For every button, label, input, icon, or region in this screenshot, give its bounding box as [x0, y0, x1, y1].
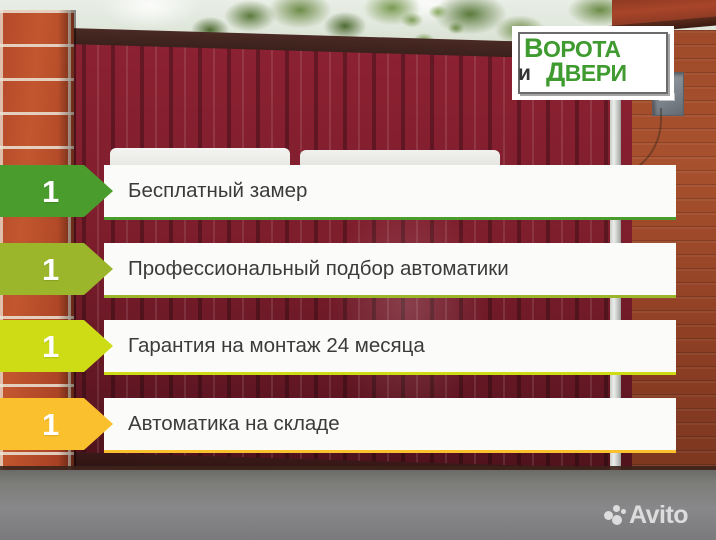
avito-dots-icon [604, 505, 626, 525]
avito-watermark: Avito [604, 500, 704, 530]
benefit-bar: Гарантия на монтаж 24 месяца [104, 320, 676, 375]
avito-label: Avito [629, 503, 688, 528]
benefit-number: 1 [42, 254, 59, 285]
benefit-number: 1 [42, 176, 59, 207]
benefit-bar: Автоматика на складе [104, 398, 676, 453]
company-logo: и ВОРОТА ДВЕРИ [512, 26, 674, 100]
benefit-text: Автоматика на складе [128, 412, 340, 436]
benefit-text: Профессиональный подбор автоматики [128, 257, 509, 281]
benefit-number: 1 [42, 331, 59, 362]
benefit-bar: Бесплатный замер [104, 165, 676, 220]
benefit-text: Бесплатный замер [128, 179, 307, 203]
logo-word-dveri: ДВЕРИ [546, 58, 664, 86]
logo-conjunction: и [518, 62, 531, 86]
benefit-text: Гарантия на монтаж 24 месяца [128, 334, 425, 358]
benefit-bar: Профессиональный подбор автоматики [104, 243, 676, 298]
banner-image: и ВОРОТА ДВЕРИ Бесплатный замер 1 Профес… [0, 0, 716, 540]
benefit-number: 1 [42, 409, 59, 440]
